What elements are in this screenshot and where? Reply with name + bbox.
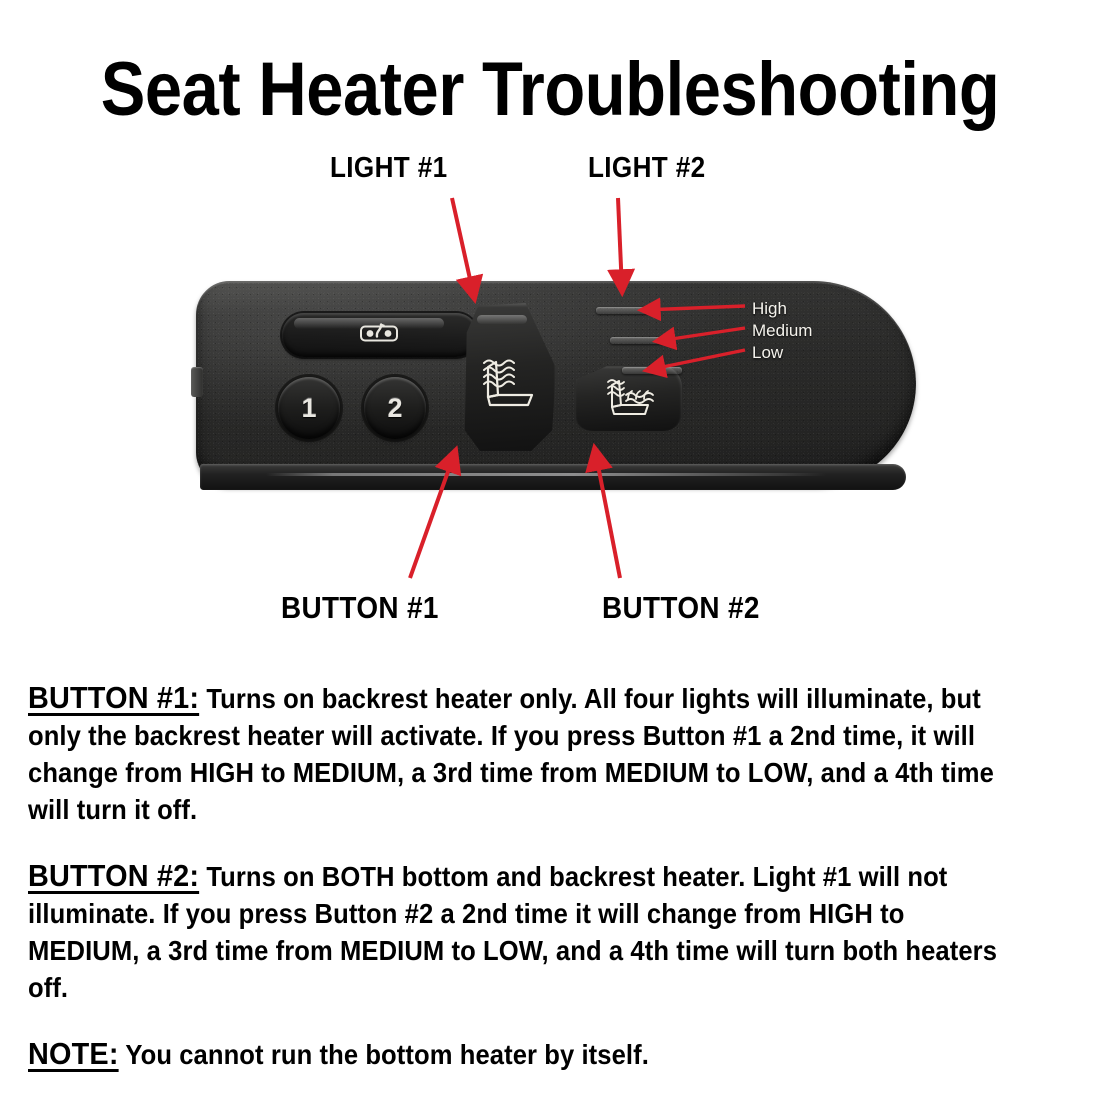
- callout-label-light-1: LIGHT #1: [330, 152, 447, 185]
- button-1-backrest-heater[interactable]: [461, 303, 556, 451]
- button-2-both-heaters[interactable]: [574, 365, 682, 431]
- seat-memory-icon: [353, 320, 407, 351]
- memory-button-2[interactable]: 2: [364, 377, 426, 439]
- panel-bottom-lip: [200, 464, 906, 490]
- seat-control-panel: 1 2: [196, 281, 916, 503]
- memory-button-1-label: 1: [301, 395, 316, 422]
- arrow-light-2: [618, 198, 622, 290]
- instruction-lead-button-2: BUTTON #2:: [28, 858, 199, 893]
- led-indicator-high: [596, 307, 660, 314]
- led-indicator-low: [622, 367, 682, 374]
- callout-label-button-1: BUTTON #1: [281, 590, 439, 626]
- memory-button-2-label: 2: [387, 395, 402, 422]
- callout-label-button-2: BUTTON #2: [602, 590, 760, 626]
- button-1-gloss: [477, 315, 527, 324]
- instruction-paragraph-button-1: BUTTON #1: Turns on backrest heater only…: [28, 679, 1001, 828]
- instruction-paragraph-button-2: BUTTON #2: Turns on BOTH bottom and back…: [28, 857, 1001, 1006]
- heated-seat-and-backrest-icon: [600, 373, 666, 430]
- seat-memory-button[interactable]: [282, 313, 478, 357]
- instruction-lead-note: NOTE:: [28, 1036, 119, 1071]
- level-label-low: Low: [752, 343, 783, 363]
- instruction-text-note: You cannot run the bottom heater by itse…: [119, 1039, 649, 1070]
- heated-backrest-icon: [472, 351, 546, 426]
- level-label-medium: Medium: [752, 321, 812, 341]
- instruction-lead-button-1: BUTTON #1:: [28, 680, 199, 715]
- panel-seam: [266, 473, 826, 476]
- instruction-paragraph-note: NOTE: You cannot run the bottom heater b…: [28, 1035, 1001, 1073]
- callout-label-light-2: LIGHT #2: [588, 152, 705, 185]
- memory-button-1[interactable]: 1: [278, 377, 340, 439]
- led-indicator-medium: [610, 337, 674, 344]
- panel-side-tab: [191, 367, 203, 397]
- instructions-block: BUTTON #1: Turns on backrest heater only…: [28, 679, 1074, 1073]
- level-label-high: High: [752, 299, 787, 319]
- page-title: Seat Heater Troubleshooting: [66, 47, 1034, 133]
